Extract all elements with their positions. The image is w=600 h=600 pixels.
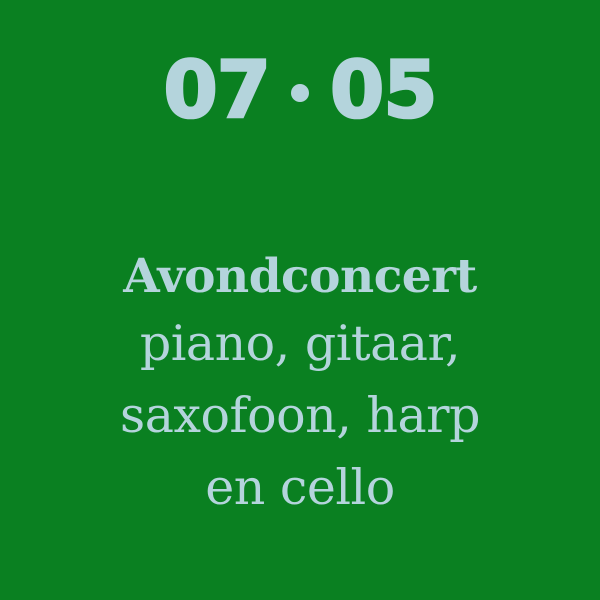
middot-separator-icon (291, 84, 309, 102)
event-text-block: Avondconcert piano, gitaar, saxofoon, ha… (0, 246, 600, 524)
event-subtitle-line: en cello (0, 452, 600, 524)
event-date-month: 05 (330, 52, 437, 130)
event-subtitle: piano, gitaar, saxofoon, harp en cello (0, 308, 600, 524)
event-title: Avondconcert (0, 246, 600, 308)
event-date: 07 05 (0, 52, 600, 130)
event-date-day: 07 (163, 52, 270, 130)
event-subtitle-line: saxofoon, harp (0, 380, 600, 452)
event-subtitle-line: piano, gitaar, (0, 308, 600, 380)
event-card: 07 05 Avondconcert piano, gitaar, saxofo… (0, 0, 600, 600)
